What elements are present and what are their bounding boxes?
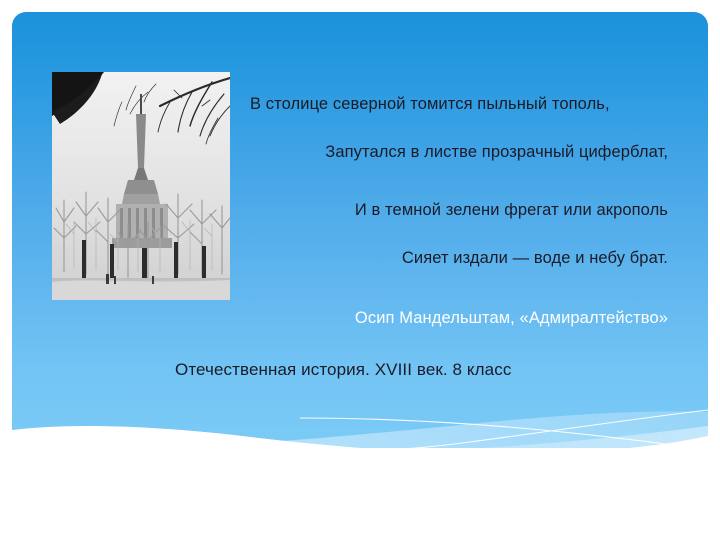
poem-line-4: Сияет издали — воде и небу брат.	[250, 234, 668, 282]
poem-line-1: В столице северной томится пыльный топол…	[250, 80, 668, 128]
poem-attribution: Осип Мандельштам, «Адмиралтейство»	[250, 294, 668, 342]
admiralty-photo	[52, 72, 230, 300]
poem-block: В столице северной томится пыльный топол…	[250, 80, 668, 342]
presentation-slide: В столице северной томится пыльный топол…	[0, 0, 720, 540]
poem-line-3: И в темной зелени фрегат или акрополь	[250, 186, 668, 234]
slide-caption: Отечественная история. XVIII век. 8 клас…	[175, 360, 511, 380]
poem-line-2: Запутался в листве прозрачный циферблат,	[250, 128, 668, 176]
